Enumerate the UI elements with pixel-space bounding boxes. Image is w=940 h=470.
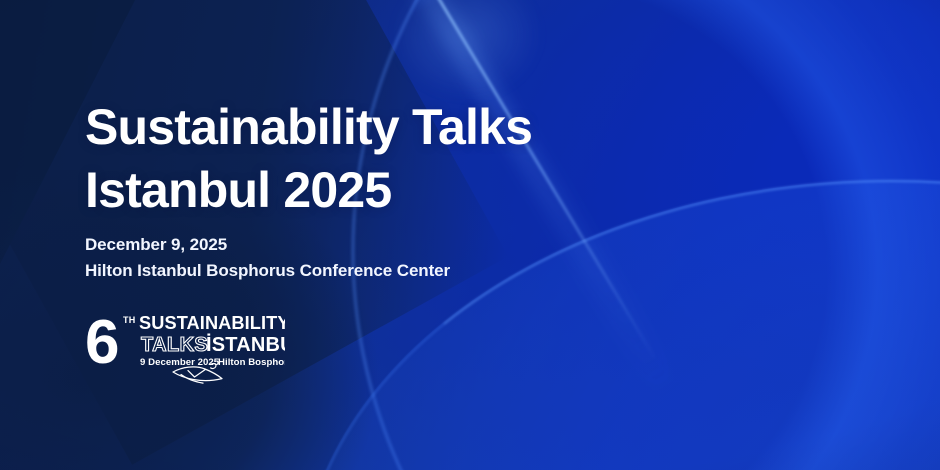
logo-word-istanbul: İSTANBUL xyxy=(206,333,285,356)
logo-word-sustainability: SUSTAINABILITY xyxy=(139,313,285,333)
event-logo: .num { font-family:"Liberation Sans", sa… xyxy=(85,306,285,388)
logo-tagline-venue: Hilton Bosphorus xyxy=(218,357,285,368)
event-date: December 9, 2025 xyxy=(85,232,450,258)
bridge-wave-emblem-icon xyxy=(173,367,222,383)
logo-word-talks: TALKS xyxy=(141,334,208,356)
logo-edition-suffix: TH xyxy=(123,315,135,325)
event-venue: Hilton Istanbul Bosphorus Conference Cen… xyxy=(85,258,450,284)
logo-tagline-date: 9 December 2025 xyxy=(140,357,220,368)
logo-edition-number: 6 xyxy=(85,308,119,377)
banner-content: Sustainability Talks Istanbul 2025 Decem… xyxy=(85,0,785,470)
event-banner: Sustainability Talks Istanbul 2025 Decem… xyxy=(0,0,940,470)
event-details: December 9, 2025 Hilton Istanbul Bosphor… xyxy=(85,232,450,284)
page-title: Sustainability Talks Istanbul 2025 xyxy=(85,96,532,222)
event-logo-graphic: .num { font-family:"Liberation Sans", sa… xyxy=(85,306,285,388)
